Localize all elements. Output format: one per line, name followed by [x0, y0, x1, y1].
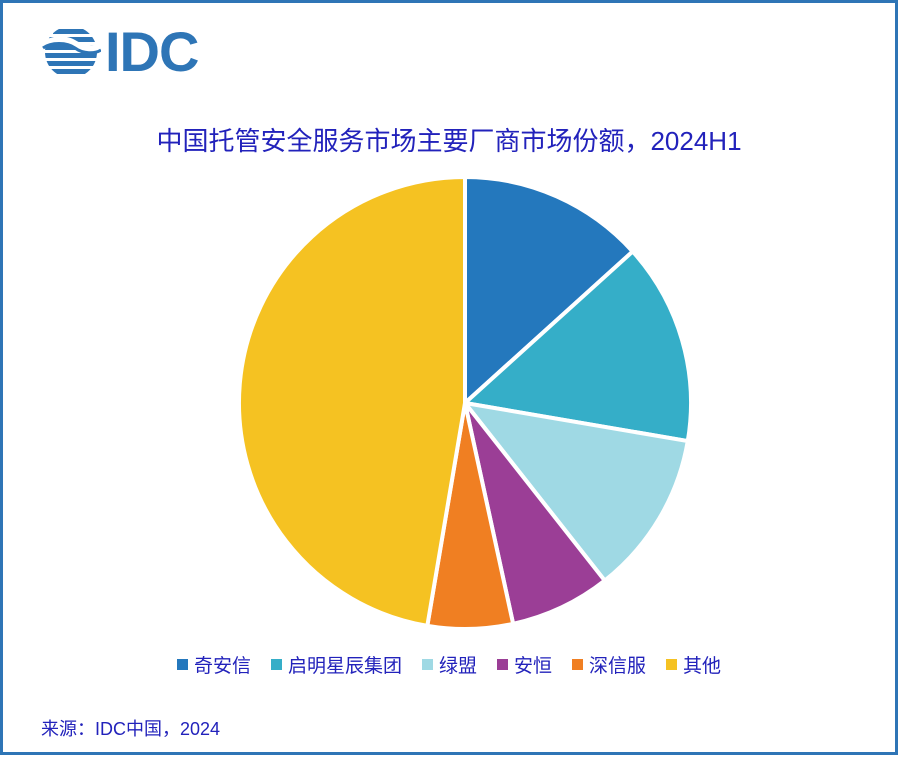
- legend-item[interactable]: 奇安信: [177, 651, 251, 678]
- legend-label: 安恒: [514, 651, 552, 678]
- legend-swatch-icon: [271, 659, 282, 670]
- legend-label: 奇安信: [194, 651, 251, 678]
- idc-globe-icon: [41, 23, 101, 81]
- legend-item[interactable]: 深信服: [572, 651, 646, 678]
- legend-swatch-icon: [177, 659, 188, 670]
- legend-swatch-icon: [666, 659, 677, 670]
- legend-label: 绿盟: [439, 651, 477, 678]
- legend-swatch-icon: [422, 659, 433, 670]
- legend-label: 深信服: [589, 651, 646, 678]
- idc-wordmark: IDC: [105, 23, 198, 81]
- legend-swatch-icon: [497, 659, 508, 670]
- chart-legend: 奇安信启明星辰集团绿盟安恒深信服其他: [3, 651, 895, 678]
- pie-chart-area: [3, 3, 898, 758]
- chart-title: 中国托管安全服务市场主要厂商市场份额，2024H1: [3, 121, 895, 158]
- legend-label: 启明星辰集团: [288, 651, 402, 678]
- pie-slice-group: [239, 177, 691, 629]
- idc-logo: IDC: [41, 21, 261, 83]
- pie-slice[interactable]: [239, 177, 465, 626]
- legend-item[interactable]: 其他: [666, 651, 721, 678]
- source-note: 来源：IDC中国，2024: [41, 715, 220, 741]
- legend-item[interactable]: 绿盟: [422, 651, 477, 678]
- legend-swatch-icon: [572, 659, 583, 670]
- legend-item[interactable]: 启明星辰集团: [271, 651, 402, 678]
- chart-page: IDC 中国托管安全服务市场主要厂商市场份额，2024H1 奇安信启明星辰集团绿…: [0, 0, 898, 755]
- legend-label: 其他: [683, 651, 721, 678]
- legend-item[interactable]: 安恒: [497, 651, 552, 678]
- pie-chart[interactable]: [229, 167, 701, 639]
